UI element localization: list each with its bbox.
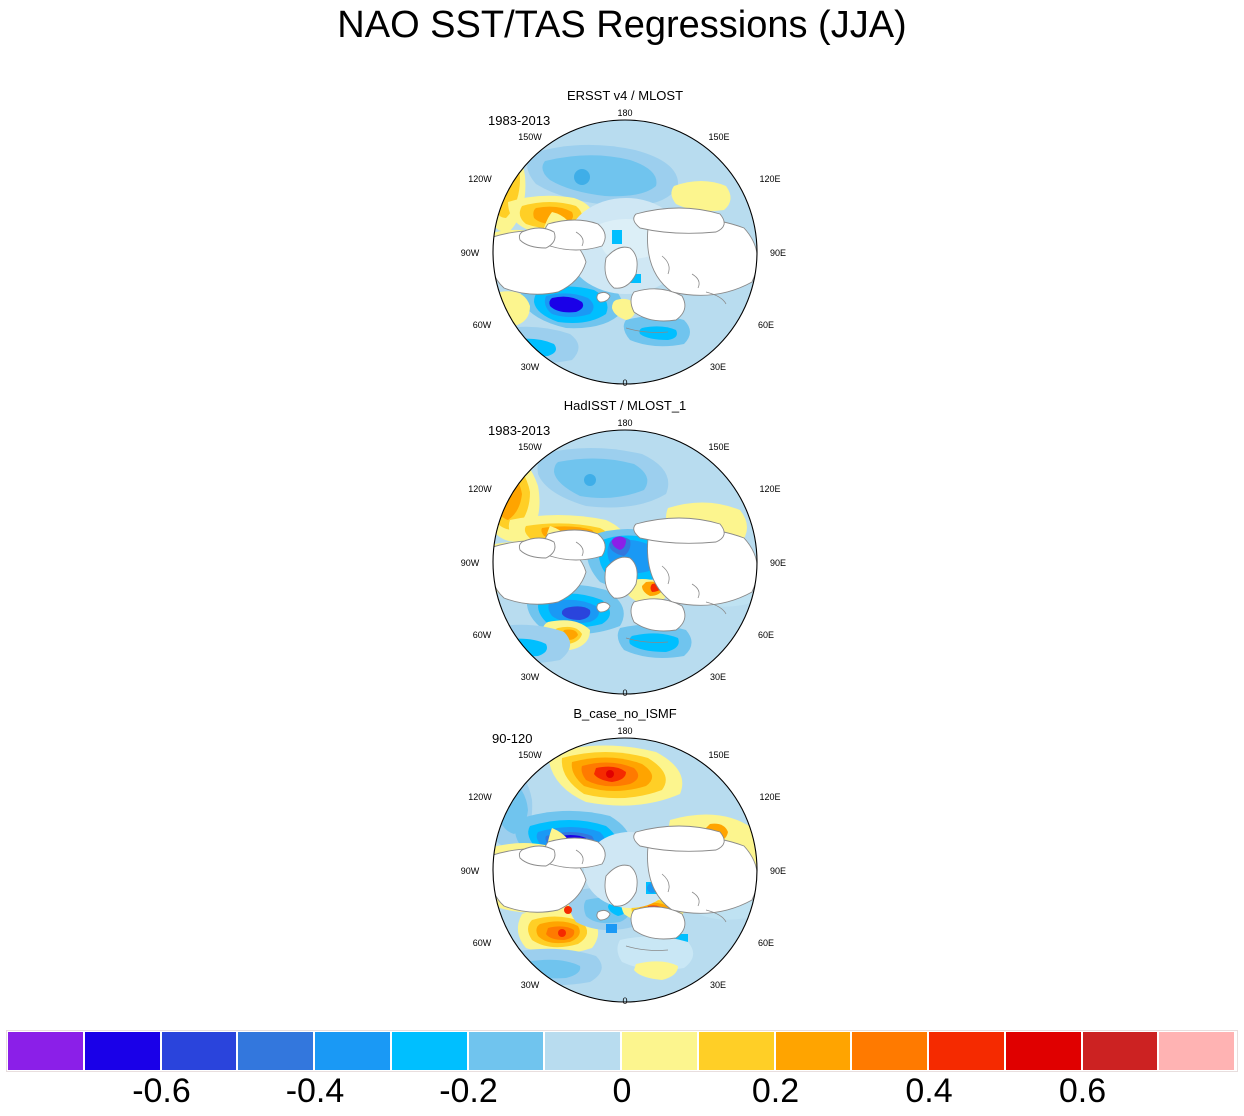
colorbar-cell-2[interactable] bbox=[162, 1032, 237, 1070]
map-panel-hadisst: HadISST / MLOST_1 1983-2013 bbox=[430, 398, 820, 698]
lon-label-150W: 150W bbox=[518, 750, 542, 760]
colorbar-cell-13[interactable] bbox=[1006, 1032, 1081, 1070]
lon-label-180: 180 bbox=[617, 726, 632, 736]
map-hadisst: 180 150E 120E 90E 60E 30E 0 30W 60W 90W … bbox=[430, 416, 820, 698]
colorbar-tick-0.2: 0.2 bbox=[752, 1072, 799, 1111]
lon-label-150W: 150W bbox=[518, 442, 542, 452]
lon-label-90W: 90W bbox=[461, 248, 480, 258]
colorbar-cell-12[interactable] bbox=[929, 1032, 1004, 1070]
map-panel-ersst: ERSST v4 / MLOST 1983-2013 bbox=[430, 88, 820, 388]
lon-label-60W: 60W bbox=[473, 938, 492, 948]
lon-label-120E: 120E bbox=[759, 484, 780, 494]
colorbar-tick-0.4: 0.4 bbox=[905, 1072, 952, 1111]
panel-title-hadisst: HadISST / MLOST_1 bbox=[430, 398, 820, 413]
map-field-hadisst bbox=[475, 430, 775, 698]
map-field-bcase bbox=[475, 738, 775, 1006]
lon-label-90W: 90W bbox=[461, 558, 480, 568]
colorbar-cell-11[interactable] bbox=[852, 1032, 927, 1070]
colorbar-cell-8[interactable] bbox=[622, 1032, 697, 1070]
lon-label-150E: 150E bbox=[708, 750, 729, 760]
lon-label-30E: 30E bbox=[710, 672, 726, 682]
lon-label-120E: 120E bbox=[759, 792, 780, 802]
colorbar-cell-4[interactable] bbox=[315, 1032, 390, 1070]
lon-label-30W: 30W bbox=[521, 980, 540, 990]
map-svg-ersst: 180 150E 120E 90E 60E 30E 0 30W 60W 90W … bbox=[430, 106, 820, 388]
panel-title-ersst: ERSST v4 / MLOST bbox=[430, 88, 820, 103]
colorbar-cell-7[interactable] bbox=[545, 1032, 620, 1070]
colorbar-cell-3[interactable] bbox=[238, 1032, 313, 1070]
lon-label-60W: 60W bbox=[473, 320, 492, 330]
map-ersst: 180 150E 120E 90E 60E 30E 0 30W 60W 90W … bbox=[430, 106, 820, 388]
figure-title: NAO SST/TAS Regressions (JJA) bbox=[0, 4, 1244, 47]
lon-label-120E: 120E bbox=[759, 174, 780, 184]
lon-label-60E: 60E bbox=[758, 938, 774, 948]
lon-label-120W: 120W bbox=[468, 792, 492, 802]
lon-label-180: 180 bbox=[617, 108, 632, 118]
lon-label-60W: 60W bbox=[473, 630, 492, 640]
lon-label-0: 0 bbox=[622, 688, 627, 698]
lon-label-60E: 60E bbox=[758, 630, 774, 640]
colorbar-cell-0[interactable] bbox=[8, 1032, 83, 1070]
lon-label-150E: 150E bbox=[708, 442, 729, 452]
colorbar-tick-0: 0 bbox=[613, 1072, 632, 1111]
colorbar-tick--0.6: -0.6 bbox=[132, 1072, 191, 1111]
map-svg-bcase: 180 150E 120E 90E 60E 30E 0 30W 60W 90W … bbox=[430, 724, 820, 1006]
lon-label-30E: 30E bbox=[710, 362, 726, 372]
lon-label-30W: 30W bbox=[521, 672, 540, 682]
colorbar-cell-14[interactable] bbox=[1083, 1032, 1158, 1070]
colorbar-cell-9[interactable] bbox=[699, 1032, 774, 1070]
colorbar-tick-0.6: 0.6 bbox=[1059, 1072, 1106, 1111]
lon-label-90E: 90E bbox=[770, 558, 786, 568]
colorbar-tick--0.2: -0.2 bbox=[439, 1072, 498, 1111]
lon-label-90W: 90W bbox=[461, 866, 480, 876]
map-panel-bcase: B_case_no_ISMF 90-120 bbox=[430, 706, 820, 1006]
lon-label-150E: 150E bbox=[708, 132, 729, 142]
lon-label-0: 0 bbox=[622, 378, 627, 388]
map-bcase: 180 150E 120E 90E 60E 30E 0 30W 60W 90W … bbox=[430, 724, 820, 1006]
colorbar-cell-10[interactable] bbox=[776, 1032, 851, 1070]
lon-label-60E: 60E bbox=[758, 320, 774, 330]
lon-label-30E: 30E bbox=[710, 980, 726, 990]
panel-title-bcase: B_case_no_ISMF bbox=[430, 706, 820, 721]
lon-label-120W: 120W bbox=[468, 484, 492, 494]
colorbar-cell-5[interactable] bbox=[392, 1032, 467, 1070]
colorbar-cell-6[interactable] bbox=[469, 1032, 544, 1070]
figure-root: NAO SST/TAS Regressions (JJA) ERSST v4 /… bbox=[0, 0, 1244, 1116]
colorbar-cell-15[interactable] bbox=[1159, 1032, 1234, 1070]
map-svg-hadisst: 180 150E 120E 90E 60E 30E 0 30W 60W 90W … bbox=[430, 416, 820, 698]
lon-label-180: 180 bbox=[617, 418, 632, 428]
colorbar[interactable] bbox=[8, 1032, 1236, 1070]
map-field-ersst bbox=[475, 120, 775, 388]
colorbar-cell-1[interactable] bbox=[85, 1032, 160, 1070]
lon-label-150W: 150W bbox=[518, 132, 542, 142]
lon-label-0: 0 bbox=[622, 996, 627, 1006]
lon-label-90E: 90E bbox=[770, 248, 786, 258]
colorbar-tick--0.4: -0.4 bbox=[286, 1072, 345, 1111]
lon-label-90E: 90E bbox=[770, 866, 786, 876]
lon-label-120W: 120W bbox=[468, 174, 492, 184]
lon-label-30W: 30W bbox=[521, 362, 540, 372]
